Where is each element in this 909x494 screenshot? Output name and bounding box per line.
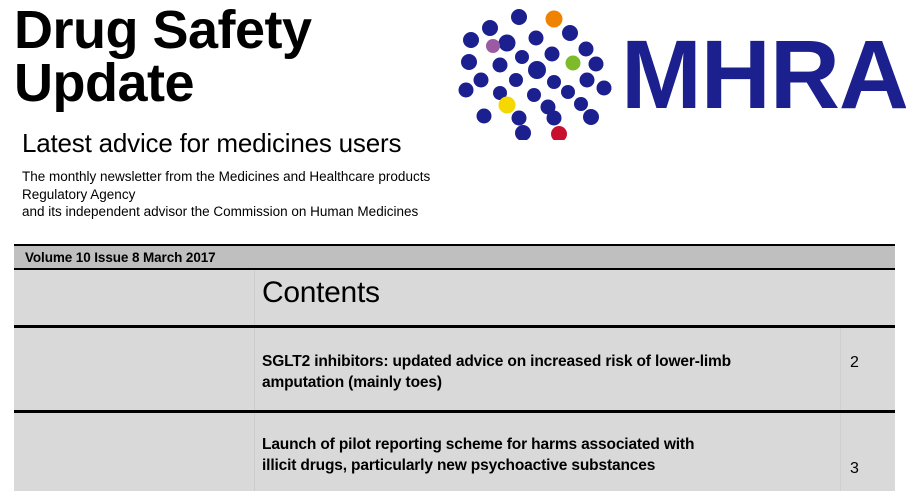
logo-dot [527,88,541,102]
masthead: Drug Safety Update Latest advice for med… [0,0,909,244]
logo-dot [493,58,508,73]
logo-dot [546,11,563,28]
contents-entry-page: 2 [850,354,859,372]
logo-dot [529,31,544,46]
contents-entry-title[interactable]: SGLT2 inhibitors: updated advice on incr… [262,352,827,393]
contents-table: Contents SGLT2 inhibitors: updated advic… [14,270,895,494]
logo-dot [515,125,531,140]
logo-dot [474,73,489,88]
column-divider-right [840,413,841,491]
column-divider-left [254,270,255,325]
logo-dot [461,54,477,70]
contents-entry-title[interactable]: Launch of pilot reporting scheme for har… [262,435,827,476]
logo-dot [545,47,560,62]
issue-label: Volume 10 Issue 8 March 2017 [25,250,216,265]
mhra-logo-svg: MHRA [458,0,906,140]
logo-dot [512,111,527,126]
logo-dot [499,35,516,52]
logo-dot [515,50,529,64]
logo-dot [509,73,523,87]
page-title: Drug Safety Update [14,4,454,110]
logo-dot [580,73,595,88]
logo-dot [579,42,594,57]
column-divider-right [840,328,841,410]
publication-blurb: The monthly newsletter from the Medicine… [22,168,454,221]
logo-dot [597,81,612,96]
logo-dot [551,126,567,140]
logo-dot [511,9,527,25]
logo-dot [574,97,588,111]
tagline: Latest advice for medicines users [22,128,454,159]
logo-dot [562,25,578,41]
issue-bar: Volume 10 Issue 8 March 2017 [14,244,895,270]
logo-dot [547,111,562,126]
title-block: Drug Safety Update Latest advice for med… [14,4,454,221]
column-divider-left [254,328,255,410]
logo-dot-cluster-icon [459,9,612,140]
mhra-logo: MHRA [458,0,906,140]
logo-dot [499,97,516,114]
logo-dot [459,83,474,98]
logo-dot [566,56,581,71]
logo-dot [528,61,546,79]
contents-header-row: Contents [14,270,895,328]
table-row[interactable]: Launch of pilot reporting scheme for har… [14,413,895,491]
logo-dot [583,109,599,125]
mhra-wordmark: MHRA [621,20,906,129]
logo-dot [482,20,498,36]
logo-dot [486,39,500,53]
logo-dot [477,109,492,124]
table-row[interactable]: SGLT2 inhibitors: updated advice on incr… [14,328,895,413]
contents-heading: Contents [262,276,380,310]
logo-dot [463,32,479,48]
logo-dot [561,85,575,99]
logo-dot [589,57,604,72]
contents-entry-page: 3 [850,460,859,478]
column-divider-left [254,413,255,491]
logo-dot [547,75,561,89]
